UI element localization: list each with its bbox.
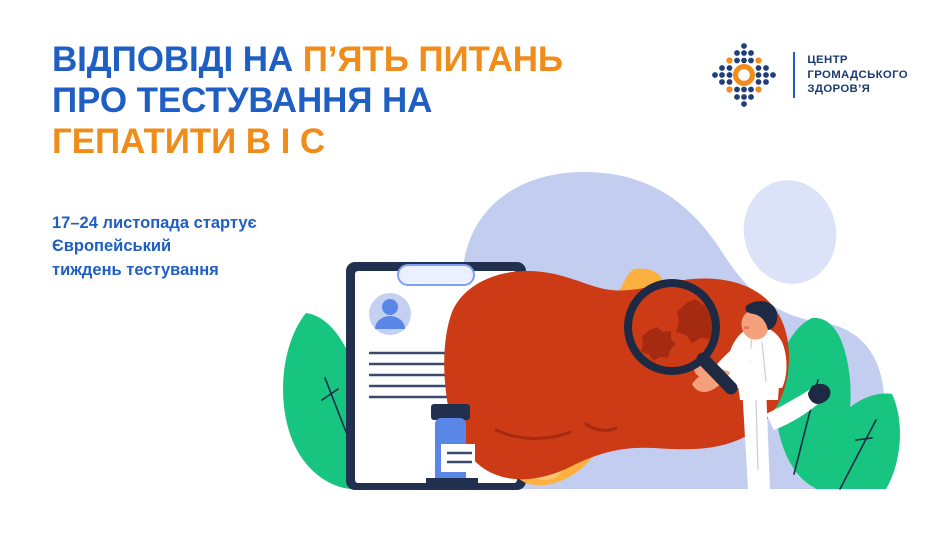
headline-line-2: ПРО ТЕСТУВАННЯ НА xyxy=(52,81,672,122)
lavender-background-blob xyxy=(437,172,884,489)
lesion-spot-large xyxy=(676,299,720,343)
clipboard-clip xyxy=(398,265,474,285)
hepatitis-testing-banner: ВІДПОВІДІ НА П’ЯТЬ ПИТАНЬ ПРО ТЕСТУВАННЯ… xyxy=(0,0,950,535)
subtitle-line-2: Європейський xyxy=(52,235,382,258)
clipboard-with-medical-form xyxy=(346,262,526,490)
page-title: ВІДПОВІДІ НА П’ЯТЬ ПИТАНЬ ПРО ТЕСТУВАННЯ… xyxy=(52,40,672,163)
headline-seg-accent: П’ЯТЬ ПИТАНЬ xyxy=(303,40,563,79)
logo-text-line-1: ЦЕНТР xyxy=(807,53,908,68)
headline-line-1: ВІДПОВІДІ НА П’ЯТЬ ПИТАНЬ xyxy=(52,40,672,81)
headline-line-3: ГЕПАТИТИ B I C xyxy=(52,122,672,163)
headline-seg: ПРО ТЕСТУВАННЯ НА xyxy=(52,81,432,120)
organization-logo: ЦЕНТР ГРОМАДСЬКОГО ЗДОРОВ’Я xyxy=(707,38,908,112)
cphl-radial-dot-logo-icon xyxy=(707,38,781,112)
green-leaf-left xyxy=(283,313,363,489)
event-subtitle: 17–24 листопада стартує Європейський тиж… xyxy=(52,212,382,282)
headline-seg-accent: ГЕПАТИТИ B I C xyxy=(52,122,325,161)
doctor-figure-holding-magnifier xyxy=(692,301,830,489)
logo-text-line-3: ЗДОРОВ’Я xyxy=(807,82,908,97)
logo-divider xyxy=(793,52,795,98)
form-avatar-icon xyxy=(369,293,411,335)
subtitle-line-1: 17–24 листопада стартує xyxy=(52,212,382,235)
liver-organ xyxy=(444,269,789,486)
liver-fold-lines xyxy=(496,424,616,439)
lesion-spot-small xyxy=(641,327,676,361)
magnifier-lens-contents xyxy=(628,283,720,375)
green-leaf-right-tall xyxy=(775,318,850,489)
vaccine-bottle xyxy=(426,404,478,490)
headline-seg: ВІДПОВІДІ НА xyxy=(52,40,303,79)
logo-text-line-2: ГРОМАДСЬКОГО xyxy=(807,68,908,83)
logo-wordmark: ЦЕНТР ГРОМАДСЬКОГО ЗДОРОВ’Я xyxy=(807,53,908,97)
magnifying-glass xyxy=(628,283,731,388)
form-text-lines xyxy=(369,353,500,397)
gallbladder-and-bile-duct xyxy=(514,269,665,486)
green-leaf-right-lower xyxy=(813,394,900,489)
lavender-light-ellipse xyxy=(734,172,846,293)
subtitle-line-3: тиждень тестування xyxy=(52,259,382,282)
